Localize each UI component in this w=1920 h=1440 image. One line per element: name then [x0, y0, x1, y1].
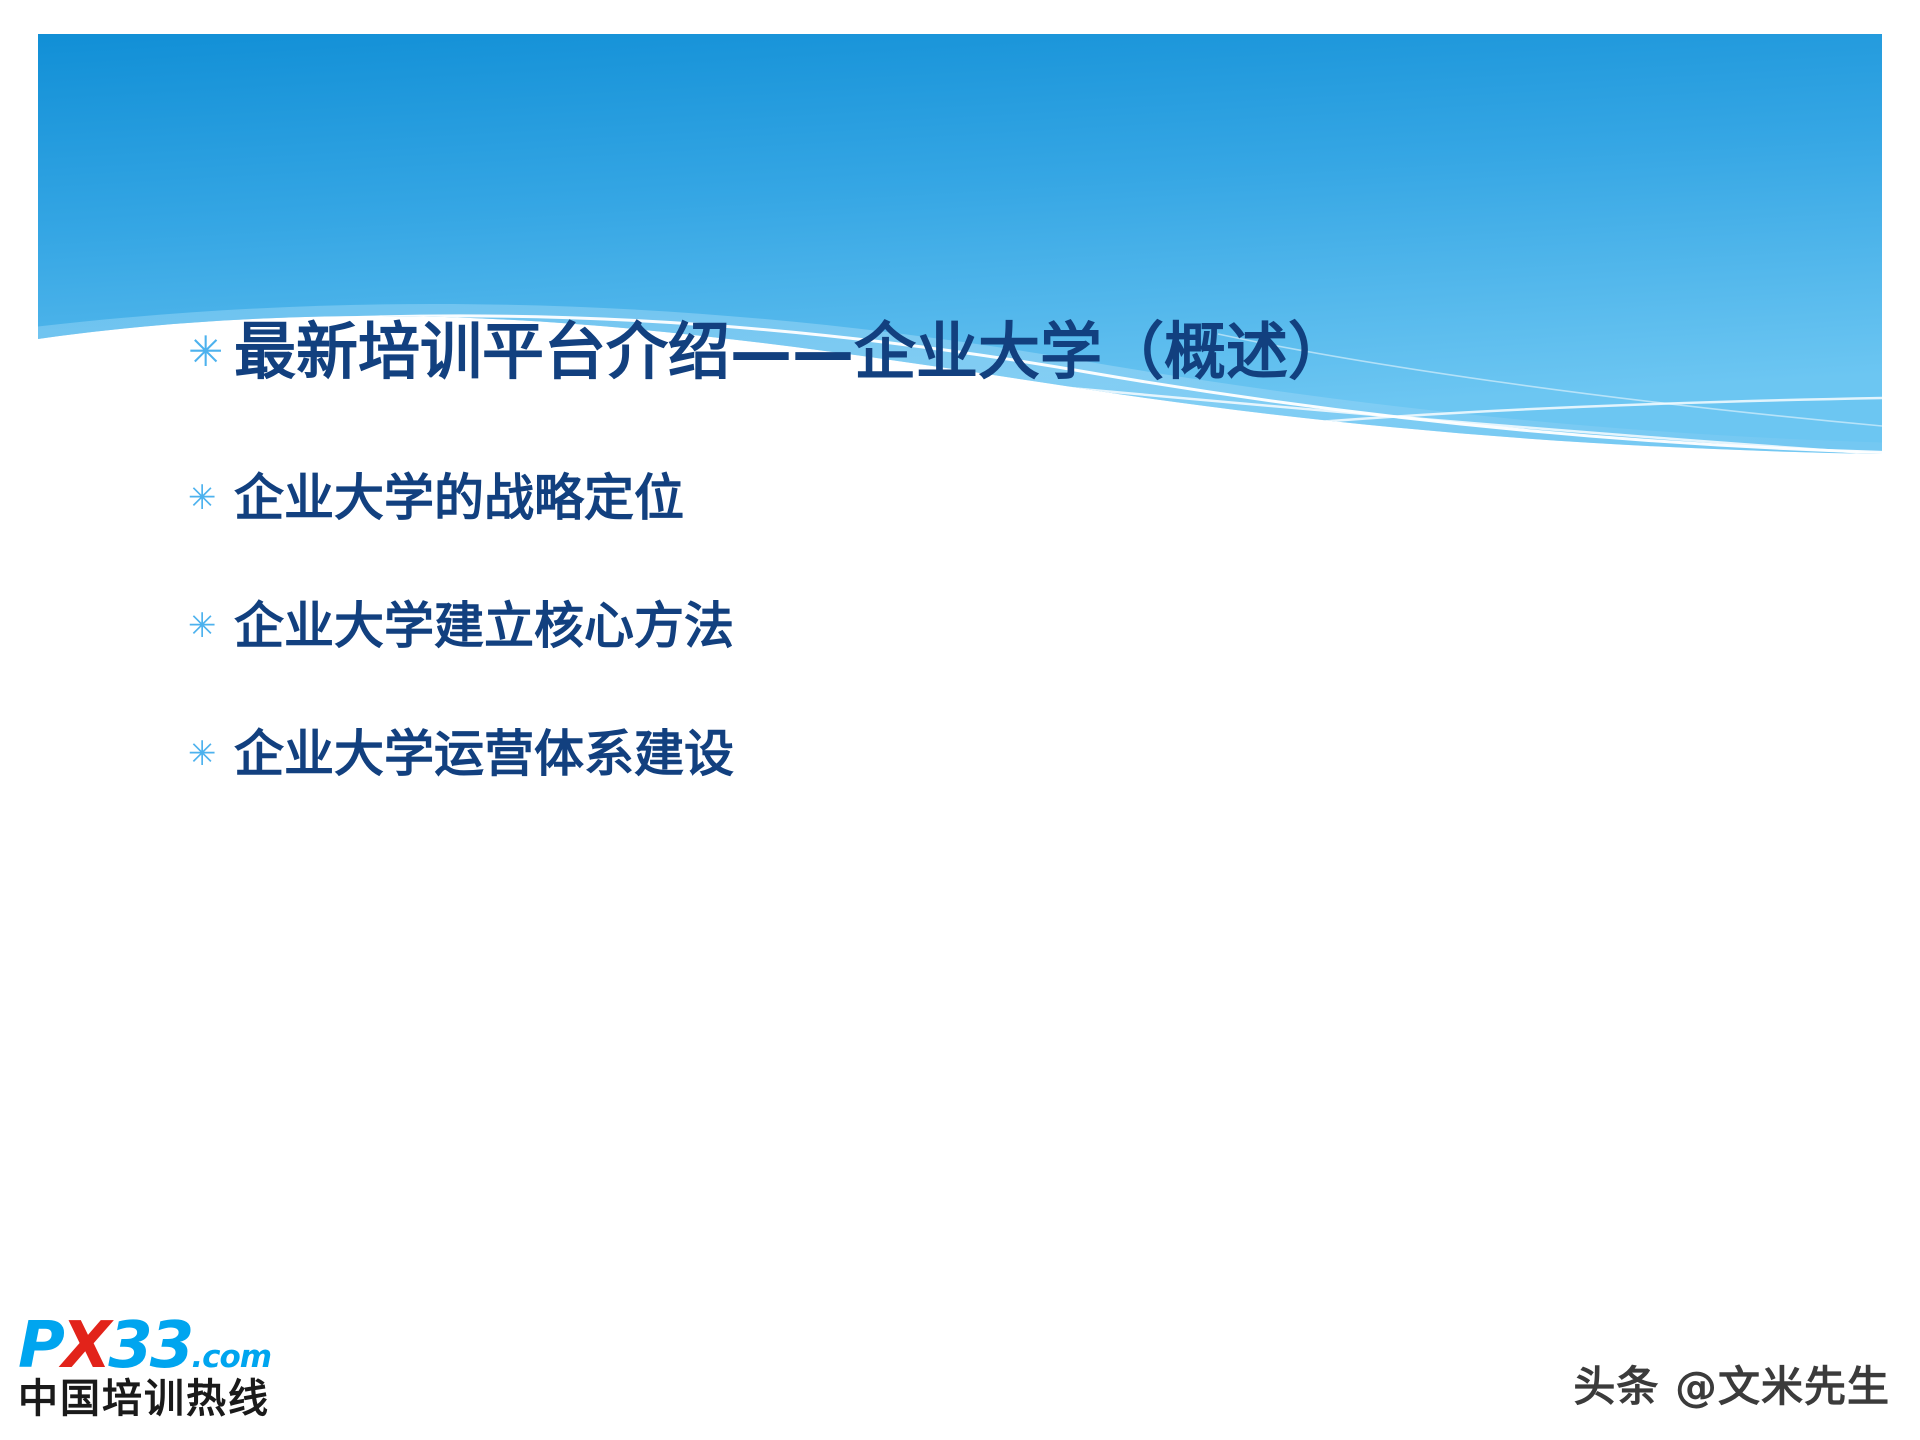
logo-letter-p: P	[18, 1309, 62, 1383]
asterisk-bullet-icon: ✳	[188, 609, 234, 643]
logo-domain-suffix: .com	[191, 1339, 271, 1375]
slide-frame: ✳ 最新培训平台介绍——企业大学（概述） ✳ 企业大学的战略定位 ✳ 企业大学建…	[38, 34, 1882, 1406]
logo-wordmark-group: PX33.com	[18, 1312, 286, 1380]
watermark-text: 头条 @文米先生	[1573, 1353, 1890, 1414]
asterisk-bullet-icon: ✳	[188, 331, 234, 373]
agenda-list: ✳ 企业大学的战略定位 ✳ 企业大学建立核心方法 ✳ 企业大学运营体系建设	[188, 434, 1788, 818]
px33-logo: PX33.com 中国培训热线	[18, 1312, 288, 1434]
page-title: 最新培训平台介绍——企业大学（概述）	[234, 319, 1350, 384]
list-item-label: 企业大学的战略定位	[234, 471, 684, 526]
logo-wordmark-text: PX33.com	[18, 1312, 271, 1391]
asterisk-bullet-icon: ✳	[188, 737, 234, 771]
list-item[interactable]: ✳ 企业大学建立核心方法	[188, 562, 1788, 690]
slide-canvas: ✳ 最新培训平台介绍——企业大学（概述） ✳ 企业大学的战略定位 ✳ 企业大学建…	[0, 0, 1920, 1440]
asterisk-bullet-icon: ✳	[188, 481, 234, 515]
logo-digits: 33	[108, 1309, 191, 1383]
logo-letter-x: X	[62, 1309, 108, 1383]
list-item[interactable]: ✳ 企业大学运营体系建设	[188, 690, 1788, 818]
list-item-label: 企业大学运营体系建设	[234, 727, 734, 782]
list-item-label: 企业大学建立核心方法	[234, 599, 734, 654]
list-item[interactable]: ✳ 企业大学的战略定位	[188, 434, 1788, 562]
slide-title-row: ✳ 最新培训平台介绍——企业大学（概述）	[188, 302, 1788, 402]
